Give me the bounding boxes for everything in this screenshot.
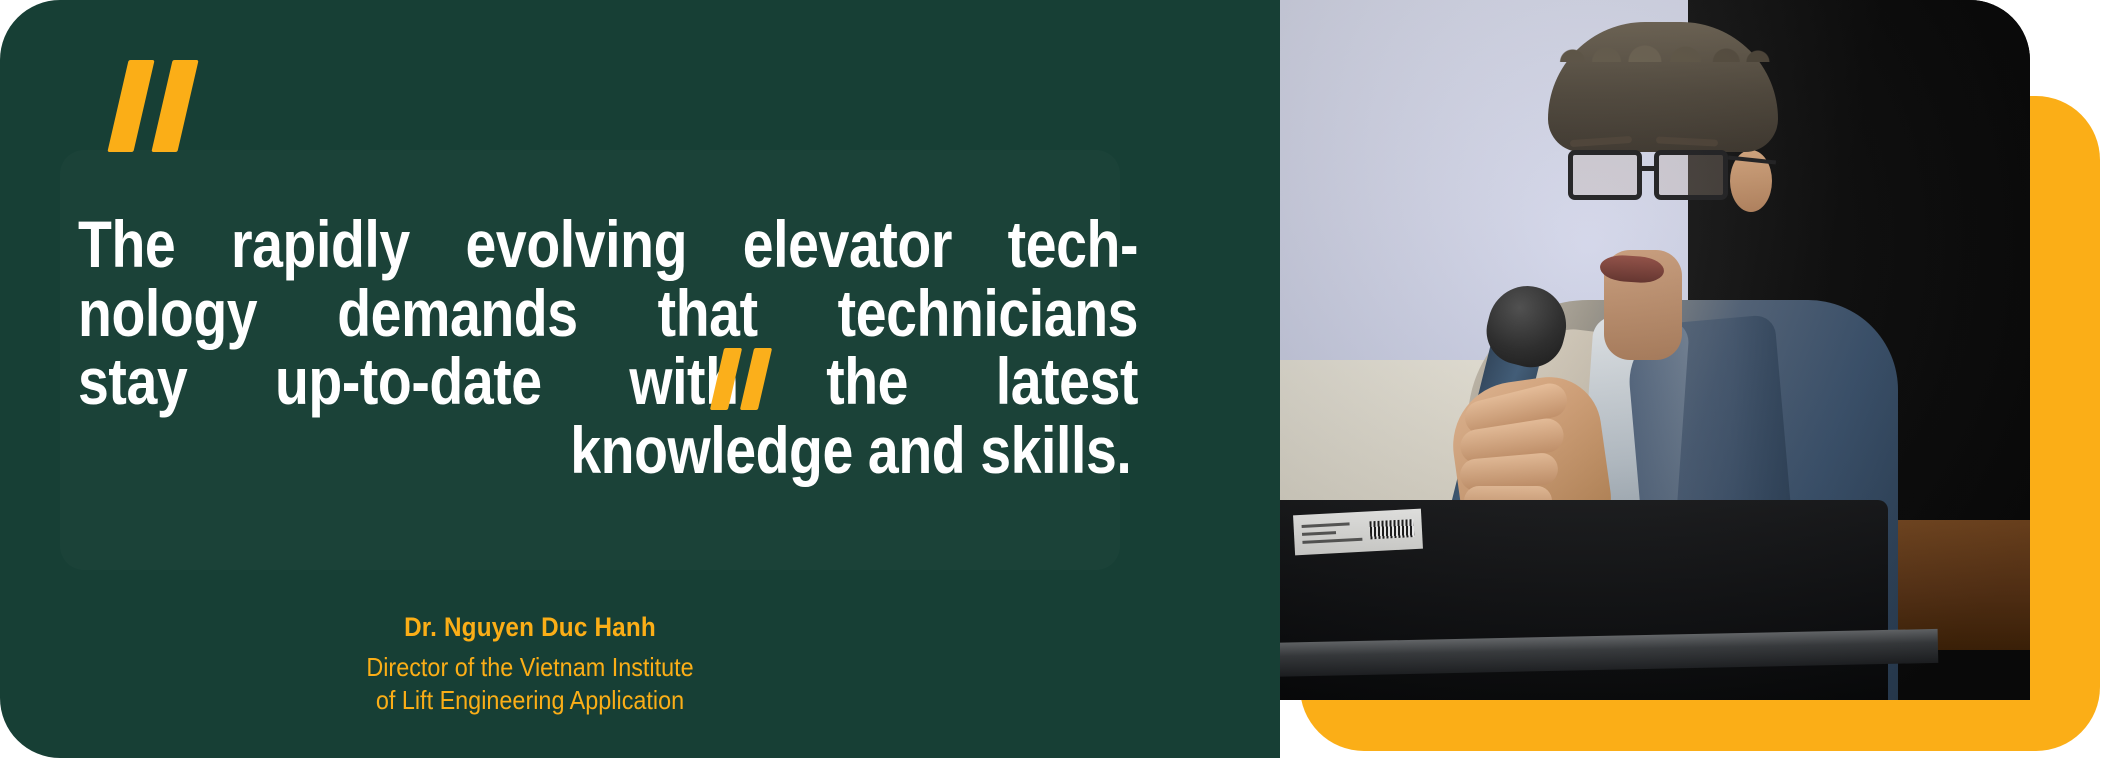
quote-word: latest <box>996 347 1138 416</box>
attribution-role-line: of Lift Engineering Application <box>107 684 953 717</box>
speaker-photo <box>1268 0 2030 700</box>
quote-word: that <box>658 279 758 348</box>
quote-text: The rapidly evolving elevator tech- nolo… <box>78 210 970 485</box>
quote-line-1: The rapidly evolving elevator tech- <box>78 210 1138 279</box>
lens-right <box>1654 150 1728 200</box>
quote-word: evolving <box>466 210 688 279</box>
quote-open-icon <box>118 60 206 152</box>
quote-word: stay <box>78 347 187 416</box>
quote-card-graphic: The rapidly evolving elevator tech- nolo… <box>0 0 2109 758</box>
quote-content: The rapidly evolving elevator tech- nolo… <box>60 52 1220 712</box>
quote-line-2: nology demands that technicians <box>78 279 1138 348</box>
attribution-name: Dr. Nguyen Duc Hanh <box>107 612 953 643</box>
quote-word: up-to-date <box>275 347 542 416</box>
quote-word: nology <box>78 279 257 348</box>
quote-word: The <box>78 210 175 279</box>
quote-bar <box>107 60 154 152</box>
quote-word: rapidly <box>231 210 410 279</box>
speaker-hair-spikes <box>1550 14 1776 62</box>
quote-word: elevator <box>743 210 952 279</box>
attribution: Dr. Nguyen Duc Hanh Director of the Viet… <box>60 612 1000 718</box>
quote-word: the <box>826 347 908 416</box>
quote-card: The rapidly evolving elevator tech- nolo… <box>0 0 1280 758</box>
quote-word: tech- <box>1008 210 1138 279</box>
quote-line-3: stay up-to-date with the latest <box>78 347 1138 416</box>
photo-scene <box>1268 0 2030 700</box>
attribution-role: Director of the Vietnam Institute of Lif… <box>107 651 953 718</box>
paper-line <box>1302 538 1362 544</box>
quote-bar <box>151 60 198 152</box>
quote-word: technicians <box>838 279 1138 348</box>
glasses-icon <box>1568 150 1750 204</box>
paper-line <box>1302 522 1350 528</box>
quote-word: demands <box>337 279 577 348</box>
lens-left <box>1568 150 1642 200</box>
quote-bar <box>740 348 772 410</box>
barcode-icon <box>1369 519 1414 539</box>
attribution-role-line: Director of the Vietnam Institute <box>107 651 953 684</box>
quote-close-icon <box>717 348 777 410</box>
paper-line <box>1302 531 1336 536</box>
quote-line-4: knowledge and skills. <box>78 416 1138 485</box>
podium-paper <box>1293 509 1423 556</box>
